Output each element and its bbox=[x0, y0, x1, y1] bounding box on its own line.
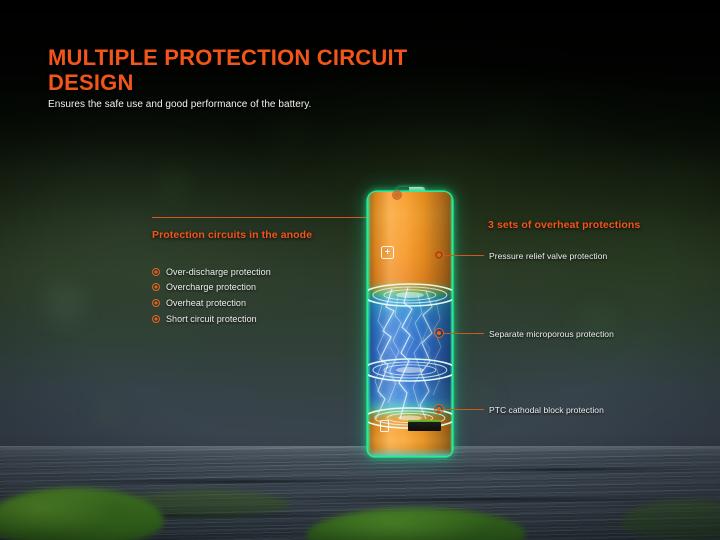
protection-bullet-list: Over-discharge protection Overcharge pro… bbox=[152, 264, 271, 326]
right-callout-heading: 3 sets of overheat protections bbox=[488, 219, 640, 231]
battery-negative-band bbox=[408, 422, 441, 431]
radio-dot-icon bbox=[152, 315, 160, 323]
right-callout-label: Separate microporous protection bbox=[489, 329, 614, 339]
negative-terminal-icon: – bbox=[380, 420, 389, 432]
radio-dot-icon bbox=[152, 299, 160, 307]
radio-dot-icon bbox=[152, 268, 160, 276]
node-dot-icon bbox=[434, 328, 444, 338]
positive-terminal-icon: + bbox=[381, 246, 394, 259]
list-item-label: Overheat protection bbox=[166, 298, 246, 308]
battery-body: + – bbox=[368, 192, 452, 456]
node-dot-icon bbox=[392, 190, 402, 200]
list-item: Over-discharge protection bbox=[152, 264, 271, 280]
battery-left-edge-glow bbox=[368, 192, 371, 456]
node-dot-icon bbox=[434, 404, 444, 414]
right-callout-label: Pressure relief valve protection bbox=[489, 251, 607, 261]
list-item-label: Overcharge protection bbox=[166, 282, 256, 292]
right-leader-line bbox=[444, 409, 484, 410]
battery-bottom-rim bbox=[368, 452, 452, 456]
list-item: Short circuit protection bbox=[152, 311, 271, 327]
page-subtitle: Ensures the safe use and good performanc… bbox=[48, 99, 311, 110]
list-item-label: Short circuit protection bbox=[166, 314, 257, 324]
right-callout-label: PTC cathodal block protection bbox=[489, 405, 604, 415]
infographic-slide: MULTIPLE PROTECTION CIRCUIT DESIGN Ensur… bbox=[0, 0, 720, 540]
battery-cylinder-shading bbox=[368, 192, 452, 456]
battery-right-edge-glow bbox=[450, 192, 453, 456]
left-callout-heading: Protection circuits in the anode bbox=[152, 229, 312, 241]
right-leader-line bbox=[444, 255, 484, 256]
list-item: Overheat protection bbox=[152, 295, 271, 311]
right-leader-line bbox=[444, 333, 484, 334]
battery-illustration: + – bbox=[368, 192, 452, 456]
radio-dot-icon bbox=[152, 283, 160, 291]
page-title: MULTIPLE PROTECTION CIRCUIT DESIGN bbox=[48, 46, 468, 96]
list-item: Overcharge protection bbox=[152, 280, 271, 296]
node-dot-icon bbox=[434, 250, 444, 260]
list-item-label: Over-discharge protection bbox=[166, 267, 271, 277]
